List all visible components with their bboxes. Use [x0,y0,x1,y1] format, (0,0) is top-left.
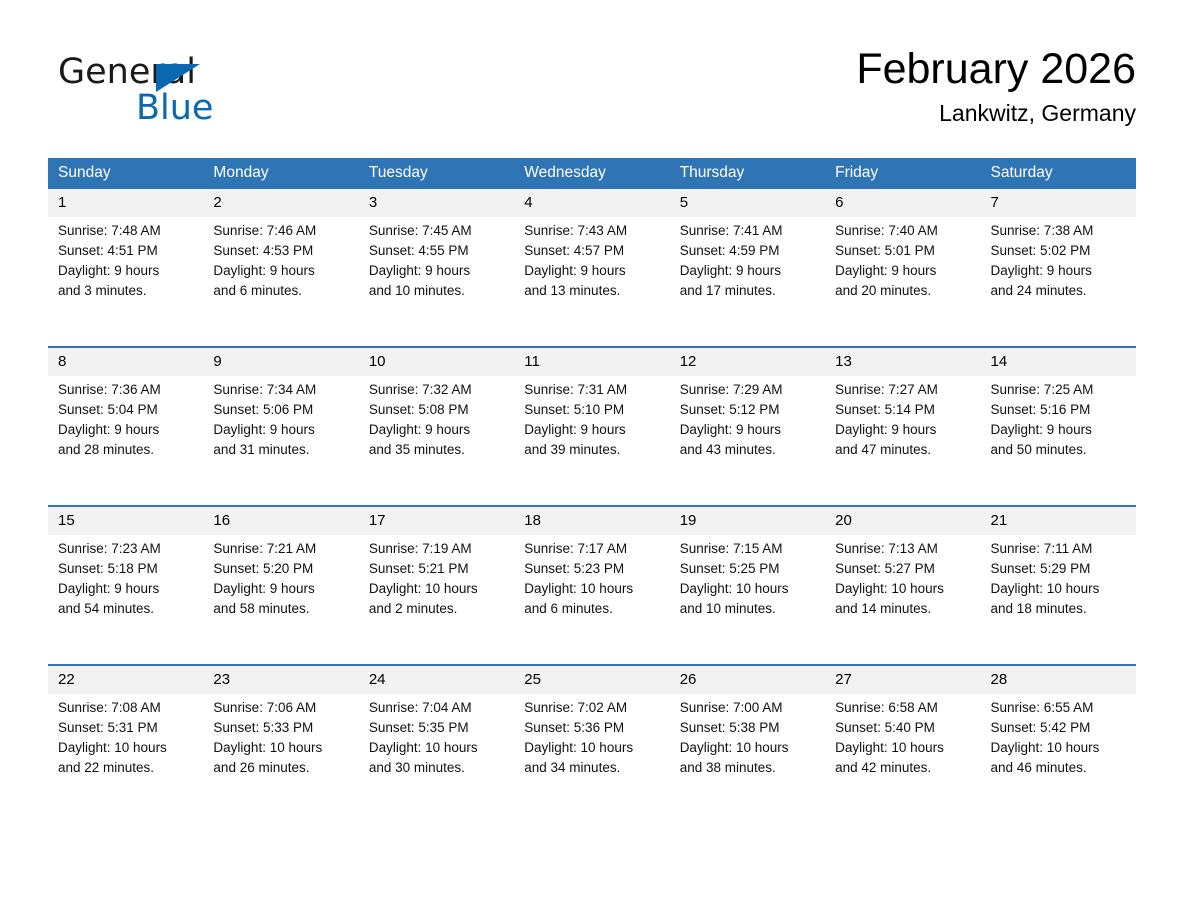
day-number: 16 [203,507,358,535]
calendar-day-cell[interactable]: 3 Sunrise: 7:45 AM Sunset: 4:55 PM Dayli… [359,189,514,301]
sunset-text: Sunset: 5:23 PM [524,559,661,579]
sunrise-text: Sunrise: 7:46 AM [213,221,350,241]
daylight-line1: Daylight: 9 hours [524,261,661,281]
daylight-line1: Daylight: 9 hours [213,420,350,440]
day-info: Sunrise: 7:21 AM Sunset: 5:20 PM Dayligh… [203,535,358,619]
calendar-day-cell[interactable]: 12 Sunrise: 7:29 AM Sunset: 5:12 PM Dayl… [670,347,825,460]
day-number: 12 [670,348,825,376]
sunrise-text: Sunrise: 7:41 AM [680,221,817,241]
sunset-text: Sunset: 5:08 PM [369,400,506,420]
logo-text-blue: Blue [136,88,213,128]
day-info: Sunrise: 7:43 AM Sunset: 4:57 PM Dayligh… [514,217,669,301]
sunrise-text: Sunrise: 7:40 AM [835,221,972,241]
sunrise-text: Sunrise: 7:27 AM [835,380,972,400]
sunrise-text: Sunrise: 7:13 AM [835,539,972,559]
sunset-text: Sunset: 4:51 PM [58,241,195,261]
sunset-text: Sunset: 5:40 PM [835,718,972,738]
sunset-text: Sunset: 5:20 PM [213,559,350,579]
day-info: Sunrise: 7:06 AM Sunset: 5:33 PM Dayligh… [203,694,358,778]
calendar-day-cell[interactable]: 14 Sunrise: 7:25 AM Sunset: 5:16 PM Dayl… [981,347,1136,460]
sunrise-text: Sunrise: 7:06 AM [213,698,350,718]
daylight-line1: Daylight: 10 hours [524,579,661,599]
calendar-day-cell[interactable]: 17 Sunrise: 7:19 AM Sunset: 5:21 PM Dayl… [359,506,514,619]
calendar-day-cell[interactable]: 19 Sunrise: 7:15 AM Sunset: 5:25 PM Dayl… [670,506,825,619]
sunset-text: Sunset: 5:16 PM [991,400,1128,420]
sunset-text: Sunset: 5:06 PM [213,400,350,420]
day-number: 24 [359,666,514,694]
day-info: Sunrise: 7:11 AM Sunset: 5:29 PM Dayligh… [981,535,1136,619]
day-info: Sunrise: 7:41 AM Sunset: 4:59 PM Dayligh… [670,217,825,301]
calendar-week-row: 8 Sunrise: 7:36 AM Sunset: 5:04 PM Dayli… [48,347,1136,460]
calendar-day-cell[interactable]: 1 Sunrise: 7:48 AM Sunset: 4:51 PM Dayli… [48,189,203,301]
calendar-day-cell[interactable]: 18 Sunrise: 7:17 AM Sunset: 5:23 PM Dayl… [514,506,669,619]
daylight-line1: Daylight: 9 hours [524,420,661,440]
daylight-line2: and 54 minutes. [58,599,195,619]
sunrise-text: Sunrise: 7:02 AM [524,698,661,718]
sunrise-text: Sunrise: 7:34 AM [213,380,350,400]
calendar-day-cell[interactable]: 21 Sunrise: 7:11 AM Sunset: 5:29 PM Dayl… [981,506,1136,619]
daylight-line2: and 10 minutes. [680,599,817,619]
day-info: Sunrise: 7:13 AM Sunset: 5:27 PM Dayligh… [825,535,980,619]
daylight-line1: Daylight: 9 hours [835,261,972,281]
sunrise-text: Sunrise: 7:48 AM [58,221,195,241]
sunrise-text: Sunrise: 7:11 AM [991,539,1128,559]
sunrise-text: Sunrise: 7:00 AM [680,698,817,718]
day-number: 7 [981,189,1136,217]
day-number: 1 [48,189,203,217]
sunrise-text: Sunrise: 6:58 AM [835,698,972,718]
week-spacer-row [48,301,1136,347]
calendar-day-cell[interactable]: 11 Sunrise: 7:31 AM Sunset: 5:10 PM Dayl… [514,347,669,460]
day-number: 26 [670,666,825,694]
day-number: 10 [359,348,514,376]
sunset-text: Sunset: 5:04 PM [58,400,195,420]
day-info: Sunrise: 7:34 AM Sunset: 5:06 PM Dayligh… [203,376,358,460]
daylight-line1: Daylight: 9 hours [835,420,972,440]
daylight-line2: and 47 minutes. [835,440,972,460]
daylight-line1: Daylight: 10 hours [991,579,1128,599]
location-subtitle: Lankwitz, Germany [856,98,1136,128]
sunset-text: Sunset: 5:42 PM [991,718,1128,738]
sunset-text: Sunset: 4:55 PM [369,241,506,261]
sunset-text: Sunset: 5:27 PM [835,559,972,579]
day-info: Sunrise: 7:36 AM Sunset: 5:04 PM Dayligh… [48,376,203,460]
calendar-week-row: 1 Sunrise: 7:48 AM Sunset: 4:51 PM Dayli… [48,189,1136,301]
day-info: Sunrise: 7:17 AM Sunset: 5:23 PM Dayligh… [514,535,669,619]
page-title: February 2026 [856,42,1136,96]
calendar-day-cell[interactable]: 8 Sunrise: 7:36 AM Sunset: 5:04 PM Dayli… [48,347,203,460]
daylight-line1: Daylight: 9 hours [991,261,1128,281]
daylight-line2: and 50 minutes. [991,440,1128,460]
sunset-text: Sunset: 5:29 PM [991,559,1128,579]
page-header: General Blue February 2026 Lankwitz, Ger… [48,42,1136,152]
day-number: 27 [825,666,980,694]
daylight-line1: Daylight: 10 hours [213,738,350,758]
day-number: 18 [514,507,669,535]
daylight-line1: Daylight: 9 hours [58,261,195,281]
calendar-day-cell[interactable]: 22 Sunrise: 7:08 AM Sunset: 5:31 PM Dayl… [48,665,203,778]
day-number: 8 [48,348,203,376]
daylight-line1: Daylight: 9 hours [369,420,506,440]
day-number: 4 [514,189,669,217]
day-info: Sunrise: 7:00 AM Sunset: 5:38 PM Dayligh… [670,694,825,778]
calendar-body: 1 Sunrise: 7:48 AM Sunset: 4:51 PM Dayli… [48,189,1136,778]
sunrise-text: Sunrise: 7:21 AM [213,539,350,559]
day-info: Sunrise: 7:08 AM Sunset: 5:31 PM Dayligh… [48,694,203,778]
day-number: 25 [514,666,669,694]
daylight-line1: Daylight: 10 hours [58,738,195,758]
calendar-container: Sunday Monday Tuesday Wednesday Thursday… [48,158,1136,778]
daylight-line2: and 35 minutes. [369,440,506,460]
sunset-text: Sunset: 5:18 PM [58,559,195,579]
day-number: 15 [48,507,203,535]
daylight-line1: Daylight: 9 hours [213,579,350,599]
sunset-text: Sunset: 5:01 PM [835,241,972,261]
calendar-day-cell[interactable]: 27 Sunrise: 6:58 AM Sunset: 5:40 PM Dayl… [825,665,980,778]
day-number: 23 [203,666,358,694]
day-number: 13 [825,348,980,376]
daylight-line2: and 58 minutes. [213,599,350,619]
calendar-day-cell[interactable]: 16 Sunrise: 7:21 AM Sunset: 5:20 PM Dayl… [203,506,358,619]
sunset-text: Sunset: 5:38 PM [680,718,817,738]
day-info: Sunrise: 7:23 AM Sunset: 5:18 PM Dayligh… [48,535,203,619]
sunrise-text: Sunrise: 7:25 AM [991,380,1128,400]
sunrise-text: Sunrise: 6:55 AM [991,698,1128,718]
day-number: 14 [981,348,1136,376]
daylight-line2: and 3 minutes. [58,281,195,301]
sunset-text: Sunset: 5:31 PM [58,718,195,738]
daylight-line2: and 6 minutes. [524,599,661,619]
day-info: Sunrise: 7:25 AM Sunset: 5:16 PM Dayligh… [981,376,1136,460]
weekday-header-wednesday: Wednesday [514,158,669,189]
daylight-line2: and 39 minutes. [524,440,661,460]
week-spacer-cell [48,619,1136,665]
day-number: 21 [981,507,1136,535]
sunrise-text: Sunrise: 7:15 AM [680,539,817,559]
daylight-line2: and 42 minutes. [835,758,972,778]
sunset-text: Sunset: 5:35 PM [369,718,506,738]
calendar-day-cell[interactable]: 4 Sunrise: 7:43 AM Sunset: 4:57 PM Dayli… [514,189,669,301]
title-block: February 2026 Lankwitz, Germany [856,42,1136,128]
sunrise-text: Sunrise: 7:45 AM [369,221,506,241]
calendar-day-cell[interactable]: 10 Sunrise: 7:32 AM Sunset: 5:08 PM Dayl… [359,347,514,460]
daylight-line1: Daylight: 10 hours [369,738,506,758]
week-spacer-cell [48,301,1136,347]
week-spacer-row [48,619,1136,665]
daylight-line2: and 17 minutes. [680,281,817,301]
daylight-line2: and 22 minutes. [58,758,195,778]
daylight-line1: Daylight: 9 hours [58,579,195,599]
calendar-day-cell[interactable]: 23 Sunrise: 7:06 AM Sunset: 5:33 PM Dayl… [203,665,358,778]
day-info: Sunrise: 7:19 AM Sunset: 5:21 PM Dayligh… [359,535,514,619]
sunset-text: Sunset: 5:14 PM [835,400,972,420]
sunrise-text: Sunrise: 7:38 AM [991,221,1128,241]
day-number: 17 [359,507,514,535]
daylight-line2: and 38 minutes. [680,758,817,778]
daylight-line1: Daylight: 9 hours [213,261,350,281]
calendar-day-cell[interactable]: 24 Sunrise: 7:04 AM Sunset: 5:35 PM Dayl… [359,665,514,778]
daylight-line1: Daylight: 9 hours [680,420,817,440]
day-info: Sunrise: 7:46 AM Sunset: 4:53 PM Dayligh… [203,217,358,301]
weekday-header-saturday: Saturday [981,158,1136,189]
calendar-day-cell[interactable]: 20 Sunrise: 7:13 AM Sunset: 5:27 PM Dayl… [825,506,980,619]
sunrise-text: Sunrise: 7:23 AM [58,539,195,559]
daylight-line1: Daylight: 10 hours [991,738,1128,758]
daylight-line1: Daylight: 9 hours [680,261,817,281]
calendar-day-cell[interactable]: 2 Sunrise: 7:46 AM Sunset: 4:53 PM Dayli… [203,189,358,301]
day-info: Sunrise: 6:55 AM Sunset: 5:42 PM Dayligh… [981,694,1136,778]
day-info: Sunrise: 7:48 AM Sunset: 4:51 PM Dayligh… [48,217,203,301]
week-spacer-cell [48,460,1136,506]
day-info: Sunrise: 7:31 AM Sunset: 5:10 PM Dayligh… [514,376,669,460]
sunset-text: Sunset: 5:36 PM [524,718,661,738]
day-info: Sunrise: 7:32 AM Sunset: 5:08 PM Dayligh… [359,376,514,460]
day-info: Sunrise: 6:58 AM Sunset: 5:40 PM Dayligh… [825,694,980,778]
sunrise-text: Sunrise: 7:17 AM [524,539,661,559]
sunrise-text: Sunrise: 7:29 AM [680,380,817,400]
sunrise-text: Sunrise: 7:31 AM [524,380,661,400]
sunset-text: Sunset: 5:25 PM [680,559,817,579]
calendar-day-cell[interactable]: 15 Sunrise: 7:23 AM Sunset: 5:18 PM Dayl… [48,506,203,619]
generalblue-logo[interactable]: General Blue [58,52,258,132]
day-info: Sunrise: 7:40 AM Sunset: 5:01 PM Dayligh… [825,217,980,301]
daylight-line2: and 30 minutes. [369,758,506,778]
daylight-line2: and 20 minutes. [835,281,972,301]
day-number: 19 [670,507,825,535]
day-info: Sunrise: 7:29 AM Sunset: 5:12 PM Dayligh… [670,376,825,460]
calendar-page: General Blue February 2026 Lankwitz, Ger… [0,0,1188,918]
daylight-line2: and 18 minutes. [991,599,1128,619]
daylight-line2: and 31 minutes. [213,440,350,460]
calendar-week-row: 15 Sunrise: 7:23 AM Sunset: 5:18 PM Dayl… [48,506,1136,619]
daylight-line1: Daylight: 9 hours [369,261,506,281]
daylight-line1: Daylight: 10 hours [835,579,972,599]
daylight-line2: and 28 minutes. [58,440,195,460]
day-number: 5 [670,189,825,217]
sunset-text: Sunset: 4:57 PM [524,241,661,261]
daylight-line1: Daylight: 9 hours [991,420,1128,440]
sunrise-text: Sunrise: 7:04 AM [369,698,506,718]
calendar-day-cell[interactable]: 28 Sunrise: 6:55 AM Sunset: 5:42 PM Dayl… [981,665,1136,778]
sunset-text: Sunset: 5:10 PM [524,400,661,420]
calendar-day-cell[interactable]: 9 Sunrise: 7:34 AM Sunset: 5:06 PM Dayli… [203,347,358,460]
daylight-line2: and 43 minutes. [680,440,817,460]
sunset-text: Sunset: 4:59 PM [680,241,817,261]
day-info: Sunrise: 7:04 AM Sunset: 5:35 PM Dayligh… [359,694,514,778]
daylight-line2: and 2 minutes. [369,599,506,619]
sunrise-text: Sunrise: 7:43 AM [524,221,661,241]
weekday-header-tuesday: Tuesday [359,158,514,189]
daylight-line2: and 46 minutes. [991,758,1128,778]
sunset-text: Sunset: 5:33 PM [213,718,350,738]
calendar-day-cell[interactable]: 6 Sunrise: 7:40 AM Sunset: 5:01 PM Dayli… [825,189,980,301]
calendar-day-cell[interactable]: 26 Sunrise: 7:00 AM Sunset: 5:38 PM Dayl… [670,665,825,778]
calendar-day-cell[interactable]: 25 Sunrise: 7:02 AM Sunset: 5:36 PM Dayl… [514,665,669,778]
sunset-text: Sunset: 5:02 PM [991,241,1128,261]
sunrise-text: Sunrise: 7:19 AM [369,539,506,559]
daylight-line1: Daylight: 10 hours [369,579,506,599]
daylight-line2: and 24 minutes. [991,281,1128,301]
daylight-line1: Daylight: 10 hours [680,738,817,758]
day-number: 20 [825,507,980,535]
week-spacer-row [48,460,1136,506]
daylight-line2: and 26 minutes. [213,758,350,778]
daylight-line1: Daylight: 10 hours [835,738,972,758]
sunset-text: Sunset: 4:53 PM [213,241,350,261]
day-info: Sunrise: 7:38 AM Sunset: 5:02 PM Dayligh… [981,217,1136,301]
day-number: 28 [981,666,1136,694]
calendar-day-cell[interactable]: 13 Sunrise: 7:27 AM Sunset: 5:14 PM Dayl… [825,347,980,460]
calendar-week-row: 22 Sunrise: 7:08 AM Sunset: 5:31 PM Dayl… [48,665,1136,778]
day-info: Sunrise: 7:15 AM Sunset: 5:25 PM Dayligh… [670,535,825,619]
calendar-header-row: Sunday Monday Tuesday Wednesday Thursday… [48,158,1136,189]
calendar-table: Sunday Monday Tuesday Wednesday Thursday… [48,158,1136,778]
sunrise-text: Sunrise: 7:36 AM [58,380,195,400]
sunrise-text: Sunrise: 7:32 AM [369,380,506,400]
day-info: Sunrise: 7:02 AM Sunset: 5:36 PM Dayligh… [514,694,669,778]
day-number: 2 [203,189,358,217]
sunrise-text: Sunrise: 7:08 AM [58,698,195,718]
daylight-line1: Daylight: 9 hours [58,420,195,440]
day-number: 9 [203,348,358,376]
day-info: Sunrise: 7:27 AM Sunset: 5:14 PM Dayligh… [825,376,980,460]
daylight-line2: and 10 minutes. [369,281,506,301]
day-info: Sunrise: 7:45 AM Sunset: 4:55 PM Dayligh… [359,217,514,301]
daylight-line1: Daylight: 10 hours [524,738,661,758]
calendar-day-cell[interactable]: 7 Sunrise: 7:38 AM Sunset: 5:02 PM Dayli… [981,189,1136,301]
daylight-line2: and 6 minutes. [213,281,350,301]
daylight-line1: Daylight: 10 hours [680,579,817,599]
sunset-text: Sunset: 5:21 PM [369,559,506,579]
day-number: 6 [825,189,980,217]
day-number: 11 [514,348,669,376]
weekday-header-thursday: Thursday [670,158,825,189]
day-number: 22 [48,666,203,694]
calendar-day-cell[interactable]: 5 Sunrise: 7:41 AM Sunset: 4:59 PM Dayli… [670,189,825,301]
day-number: 3 [359,189,514,217]
daylight-line2: and 34 minutes. [524,758,661,778]
daylight-line2: and 13 minutes. [524,281,661,301]
weekday-header-monday: Monday [203,158,358,189]
weekday-header-friday: Friday [825,158,980,189]
sunset-text: Sunset: 5:12 PM [680,400,817,420]
weekday-header-sunday: Sunday [48,158,203,189]
daylight-line2: and 14 minutes. [835,599,972,619]
